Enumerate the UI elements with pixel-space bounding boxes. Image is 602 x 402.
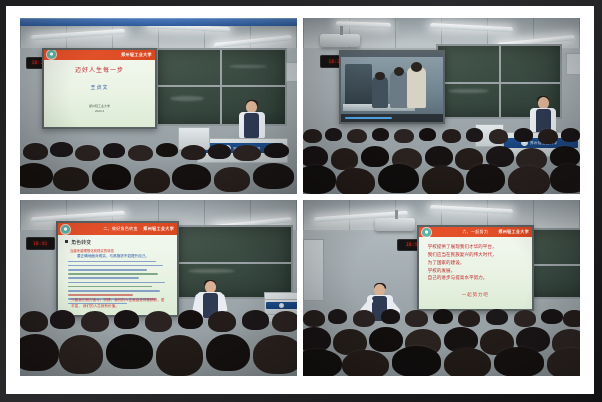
audience-head xyxy=(444,348,491,376)
audience-head xyxy=(253,163,295,189)
video-titlebar xyxy=(341,52,443,58)
audience-head xyxy=(114,310,139,329)
audience xyxy=(20,292,297,376)
slide-header-org: 郑州轻工业大学 xyxy=(121,52,152,58)
desk-row xyxy=(20,18,297,26)
audience-head xyxy=(563,310,580,327)
slide-text-line xyxy=(68,277,140,279)
board-divider xyxy=(499,46,501,116)
audience-head xyxy=(514,310,536,327)
video-person-head xyxy=(411,62,422,72)
audience-head xyxy=(372,128,389,141)
photo-top-left[interactable]: 18:20 郑州轻工业大学 迈好人生每一步 王贞文 郑州轻工业大学 2023.4 xyxy=(20,18,297,194)
photo-bottom-right[interactable]: 18:58 六、一起努力 郑州轻工业大学 学校提供了展现我们才华的平台， 我们应… xyxy=(303,200,580,376)
audience-head xyxy=(466,128,483,142)
audience-head xyxy=(233,145,261,162)
audience-head xyxy=(514,128,533,142)
slide-header-org: 郑州轻工业大学 xyxy=(498,229,529,235)
chalk-mark xyxy=(188,269,235,273)
audience-head xyxy=(538,129,557,144)
audience-head xyxy=(392,346,442,376)
wall-box xyxy=(286,62,297,82)
collage-canvas: 18:20 郑州轻工业大学 迈好人生每一步 王贞文 郑州轻工业大学 2023.4 xyxy=(0,0,602,402)
slide-footer: 郑州轻工业大学 2023.4 xyxy=(44,104,155,113)
audience-head xyxy=(303,146,328,167)
audience-head xyxy=(23,143,48,160)
audience-head xyxy=(75,145,100,161)
audience-head xyxy=(494,347,544,376)
audience-head xyxy=(242,310,270,329)
video-person-head xyxy=(394,67,404,76)
slide-calligraphy-body: 学校提供了展现我们才华的平台， 我们应当在民族复兴的伟大时代， 为了国家的建设，… xyxy=(428,243,526,282)
audience-head xyxy=(433,309,452,324)
audience-head xyxy=(442,129,461,143)
blackboard xyxy=(172,225,292,299)
wall-box xyxy=(566,53,580,74)
chalk-mark xyxy=(448,89,489,93)
slide-sub-heading: 当越来越理想化到现实的转变 xyxy=(70,248,114,253)
audience-head xyxy=(405,310,427,327)
audience-head xyxy=(20,334,59,371)
audience-head xyxy=(489,129,508,144)
audience-head xyxy=(331,148,359,170)
slide-header-bar: 二、做好角色转变 郑州轻工业大学 xyxy=(58,223,177,235)
slide-text-line xyxy=(68,286,152,288)
projector-icon xyxy=(320,34,360,47)
audience-head xyxy=(106,334,153,369)
audience-head xyxy=(336,168,375,194)
audience-head xyxy=(369,327,402,352)
audience-head xyxy=(561,128,580,142)
slide-text-line xyxy=(68,261,156,263)
led-clock-value: 18:41 xyxy=(33,241,48,246)
audience-head xyxy=(466,164,505,193)
audience-head xyxy=(208,144,230,159)
audience-head xyxy=(419,128,436,141)
board-divider xyxy=(174,262,290,264)
slide-text-line xyxy=(68,282,165,284)
blackboard xyxy=(156,48,287,126)
audience-head xyxy=(103,143,125,158)
slide-text-line xyxy=(68,269,148,271)
audience-head xyxy=(378,164,420,194)
slide-text-line xyxy=(68,265,163,267)
audience-head xyxy=(53,167,89,191)
video-person-head xyxy=(375,72,385,81)
audience-head xyxy=(92,164,131,190)
slide-header-section: 二、做好角色转变 xyxy=(103,226,137,232)
audience-head xyxy=(303,129,322,143)
photo-top-right[interactable]: 18:25 xyxy=(303,18,580,194)
photo-bottom-left[interactable]: 18:41 二、做好角色转变 郑州轻工业大学 角色转变 当越来越理想化到现实的转… xyxy=(20,200,297,376)
audience-head xyxy=(486,309,508,325)
slide-text-line xyxy=(68,273,158,275)
audience-head xyxy=(178,310,203,329)
board-divider xyxy=(220,50,222,124)
video-machinery xyxy=(345,64,372,108)
audience-head xyxy=(547,348,580,376)
audience-head xyxy=(253,335,297,374)
audience-head xyxy=(361,146,389,167)
audience-head xyxy=(303,349,342,376)
audience xyxy=(20,120,297,194)
audience-head xyxy=(20,311,48,332)
university-logo-icon xyxy=(61,225,70,234)
audience-head xyxy=(303,165,336,194)
chalk-mark xyxy=(229,65,267,69)
video-person xyxy=(372,76,388,108)
audience-head xyxy=(59,335,103,374)
audience-head xyxy=(172,164,211,189)
audience-head xyxy=(508,166,550,194)
slide-header-org: 郑州轻工业大学 xyxy=(143,226,174,232)
video-person xyxy=(407,67,426,108)
audience-head xyxy=(425,146,453,167)
speaker-head xyxy=(246,101,257,113)
audience-head xyxy=(325,128,342,141)
audience-head xyxy=(422,166,464,194)
audience-head xyxy=(353,310,375,327)
audience-head xyxy=(342,350,389,376)
audience-head xyxy=(156,335,203,376)
audience-head xyxy=(264,143,289,158)
audience-head xyxy=(206,334,250,371)
audience-head xyxy=(303,310,325,327)
audience-head xyxy=(145,311,173,332)
audience-head xyxy=(50,142,72,157)
audience-head xyxy=(134,168,170,192)
audience-head xyxy=(328,309,347,324)
slide-title: 迈好人生每一步 xyxy=(44,65,155,74)
audience-head xyxy=(156,143,178,157)
slide-presenter: 王贞文 xyxy=(44,84,155,91)
audience-head xyxy=(381,309,400,324)
video-person xyxy=(390,71,407,108)
slide-header-bar: 郑州轻工业大学 xyxy=(44,50,155,60)
audience-head xyxy=(541,309,563,324)
audience-head xyxy=(181,145,206,161)
projection-screen: 郑州轻工业大学 迈好人生每一步 王贞文 郑州轻工业大学 2023.4 xyxy=(42,48,157,129)
university-logo-icon xyxy=(422,228,431,237)
audience-head xyxy=(81,311,109,332)
audience-head xyxy=(272,311,297,332)
audience xyxy=(303,292,580,376)
university-logo-icon xyxy=(47,50,56,59)
slide-bullet-heading: 角色转变 xyxy=(65,239,91,246)
slide-header-section: 六、一起努力 xyxy=(462,229,488,235)
slide-lead-sentence: 要正确地面对现实，与其抱怨不如提升自己。 xyxy=(77,254,149,259)
audience-head xyxy=(550,164,580,193)
slide-header-bar: 六、一起努力 郑州轻工业大学 xyxy=(419,227,533,238)
audience-head xyxy=(347,129,366,143)
audience-head xyxy=(128,145,153,161)
chalk-mark xyxy=(170,96,203,101)
audience-head xyxy=(394,129,413,143)
led-clock: 18:41 xyxy=(26,237,56,250)
audience-head xyxy=(458,310,480,327)
photo-grid: 18:20 郑州轻工业大学 迈好人生每一步 王贞文 郑州轻工业大学 2023.4 xyxy=(20,18,580,382)
audience xyxy=(303,110,580,194)
audience-head xyxy=(214,167,250,191)
projector-icon xyxy=(375,218,415,231)
audience-head xyxy=(50,310,75,329)
audience-head xyxy=(208,311,236,332)
audience-head xyxy=(20,163,53,188)
